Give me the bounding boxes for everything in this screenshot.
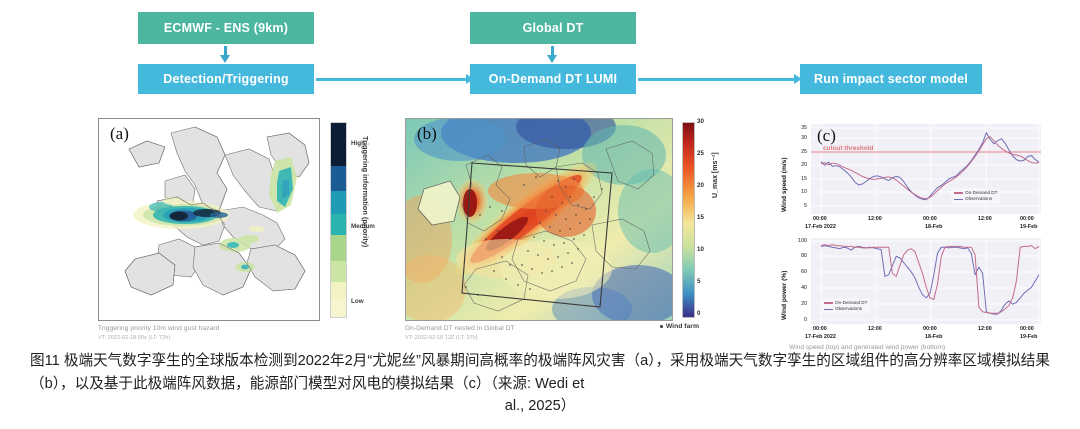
flow-node-label: Global DT bbox=[523, 21, 584, 35]
panel-b-ondemand-dt-map: (b) 30 25 20 15 10 5 0 U_max [ms⁻¹] On-D… bbox=[405, 118, 715, 340]
xtick-sub: 18-Feb bbox=[925, 224, 942, 230]
figure-caption-text: 图11 极端天气数字孪生的全球版本检测到2022年2月“尤妮丝”风暴期间高概率的… bbox=[0, 350, 1080, 395]
xtick-sub: 17-Feb 2022 bbox=[805, 334, 836, 340]
ytick: 5 bbox=[793, 203, 807, 209]
ytick: 20 bbox=[793, 301, 807, 307]
wind-speed-chart bbox=[811, 124, 1041, 214]
legend-label: Observations bbox=[965, 196, 992, 203]
xtick: 00:00 bbox=[1020, 216, 1034, 222]
wind-farm-dot-icon bbox=[660, 325, 663, 328]
europe-triggering-map bbox=[98, 118, 320, 321]
flow-node-run-impact-sector-model[interactable]: Run impact sector model bbox=[800, 64, 982, 94]
panel-b-colorbar bbox=[682, 122, 695, 318]
wind-farm-legend-label: Wind farm bbox=[666, 323, 699, 330]
figure-panels: (a) High Medium Low Triggering informati… bbox=[0, 108, 1080, 348]
panel-a-triggering-map: (a) High Medium Low Triggering informati… bbox=[98, 118, 388, 340]
xtick: 12:00 bbox=[978, 216, 992, 222]
legend-swatch-observations bbox=[824, 309, 833, 310]
xtick: 12:00 bbox=[868, 216, 882, 222]
figure-caption: 图11 极端天气数字孪生的全球版本检测到2022年2月“尤妮丝”风暴期间高概率的… bbox=[0, 350, 1080, 418]
panel-c-tag: (c) bbox=[817, 126, 836, 146]
wind-speed-plot-svg bbox=[811, 124, 1041, 214]
xtick: 00:00 bbox=[923, 326, 937, 332]
figure-caption-last-line: al., 2025） bbox=[0, 395, 1080, 418]
ytick: 100 bbox=[793, 238, 807, 244]
legend-swatch-on-demand-dt bbox=[824, 302, 833, 303]
xtick-sub: 18-Feb bbox=[925, 334, 942, 340]
map-b-svg bbox=[406, 119, 672, 320]
ytick: 15 bbox=[793, 176, 807, 182]
flow-node-global-dt[interactable]: Global DT bbox=[470, 12, 636, 44]
ytick: 60 bbox=[793, 269, 807, 275]
wind-speed-ylabel: Wind speed (m/s) bbox=[781, 157, 788, 212]
panel-a-tag: (a) bbox=[110, 124, 129, 144]
flow-node-ecmwf-ens[interactable]: ECMWF - ENS (9km) bbox=[138, 12, 314, 44]
wind-farm-legend: Wind farm bbox=[660, 323, 699, 330]
pipeline-flowchart: ECMWF - ENS (9km) Detection/Triggering G… bbox=[0, 0, 1080, 110]
legend-label: On-Demand DT bbox=[835, 300, 867, 307]
colorbar-tick: 20 bbox=[697, 182, 704, 189]
xtick: 00:00 bbox=[813, 326, 827, 332]
panel-b-footer-valid-time: VT: 2022-02-18 12Z (LT: 37h) bbox=[405, 335, 478, 341]
colorbar-tick: 5 bbox=[697, 278, 700, 285]
map-a-svg bbox=[99, 119, 319, 320]
xtick: 12:00 bbox=[978, 326, 992, 332]
colorbar-tick: 15 bbox=[697, 214, 704, 221]
xtick: 00:00 bbox=[1020, 326, 1034, 332]
xtick-sub: 19-Feb bbox=[1020, 224, 1037, 230]
xtick: 00:00 bbox=[813, 216, 827, 222]
xtick: 00:00 bbox=[923, 216, 937, 222]
xtick: 12:00 bbox=[868, 326, 882, 332]
ytick: 80 bbox=[793, 253, 807, 259]
panel-c-timeseries: Wind speed (m/s) cutout threshold (c) 35… bbox=[775, 116, 1075, 344]
colorbar-tick: 30 bbox=[697, 118, 704, 125]
panel-a-colorbar bbox=[330, 122, 347, 318]
flow-node-label: ECMWF - ENS (9km) bbox=[164, 21, 288, 35]
high-resolution-wind-map bbox=[405, 118, 673, 321]
panel-b-tag: (b) bbox=[417, 124, 437, 144]
colorbar-label-low: Low bbox=[351, 298, 364, 305]
xtick-sub: 17-Feb 2022 bbox=[805, 224, 836, 230]
panel-a-footer-title: Triggering priority 10m wind gust hazard bbox=[98, 325, 219, 332]
flow-node-detection-triggering[interactable]: Detection/Triggering bbox=[138, 64, 314, 94]
colorbar-tick: 25 bbox=[697, 150, 704, 157]
colorbar-tick: 0 bbox=[697, 310, 700, 317]
legend-swatch-observations bbox=[954, 199, 963, 200]
ytick: 20 bbox=[793, 162, 807, 168]
wind-speed-legend: On-Demand DT Observations bbox=[951, 188, 1000, 204]
flow-node-label: Run impact sector model bbox=[814, 72, 968, 86]
flow-node-label: On-Demand DT LUMI bbox=[489, 72, 617, 86]
legend-label: On-Demand DT bbox=[965, 190, 997, 197]
colorbar-title-umax: U_max [ms⁻¹] bbox=[711, 152, 719, 198]
wind-power-ylabel: Wind power (%) bbox=[781, 271, 788, 320]
ytick: 40 bbox=[793, 285, 807, 291]
ytick: 25 bbox=[793, 149, 807, 155]
cutout-threshold-label: cutout threshold bbox=[823, 145, 873, 152]
legend-label: Observations bbox=[835, 306, 862, 313]
ytick: 10 bbox=[793, 189, 807, 195]
panel-b-footer-title: On-Demand DT nested in Global DT bbox=[405, 325, 515, 332]
flow-node-on-demand-dt-lumi[interactable]: On-Demand DT LUMI bbox=[470, 64, 636, 94]
panel-a-footer-valid-time: VT: 2022-02-18 00z (LT: 72h) bbox=[98, 335, 170, 341]
ytick: 30 bbox=[793, 135, 807, 141]
ytick: 0 bbox=[793, 317, 807, 323]
colorbar-title-triggering-information: Triggering information (priority) bbox=[361, 136, 370, 247]
colorbar-tick: 10 bbox=[697, 246, 704, 253]
flow-node-label: Detection/Triggering bbox=[163, 72, 289, 86]
xtick-sub: 19-Feb bbox=[1020, 334, 1037, 340]
legend-swatch-on-demand-dt bbox=[954, 192, 963, 193]
ytick: 35 bbox=[793, 125, 807, 131]
wind-power-legend: On-Demand DT Observations bbox=[821, 298, 870, 314]
